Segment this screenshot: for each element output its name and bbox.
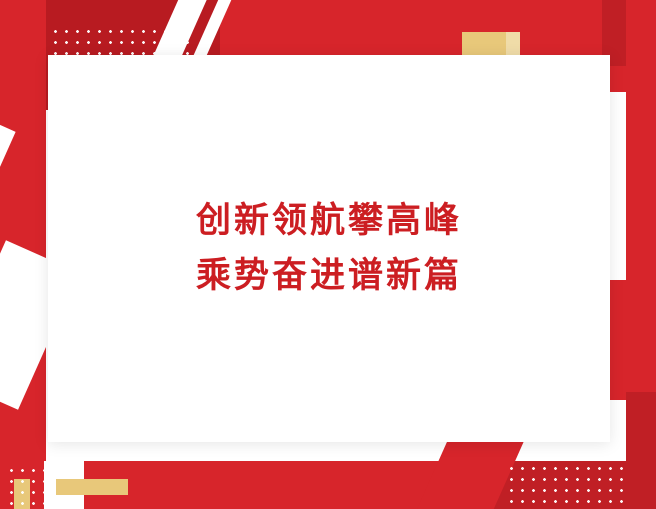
bottom-right-dot-grid-icon — [506, 463, 626, 505]
poster-title: 创新领航攀高峰 乘势奋进谱新篇 — [196, 194, 462, 303]
title-line-2: 乘势奋进谱新篇 — [196, 249, 462, 303]
right-red-block-middle — [604, 280, 656, 400]
bottom-gold-bar — [56, 479, 128, 495]
title-line-1: 创新领航攀高峰 — [196, 194, 462, 248]
content-card: 创新领航攀高峰 乘势奋进谱新篇 — [48, 55, 610, 442]
bottom-left-dot-grid-icon — [6, 465, 46, 505]
right-white-notch — [608, 96, 626, 286]
poster-canvas: 创新领航攀高峰 乘势奋进谱新篇 — [0, 0, 656, 509]
